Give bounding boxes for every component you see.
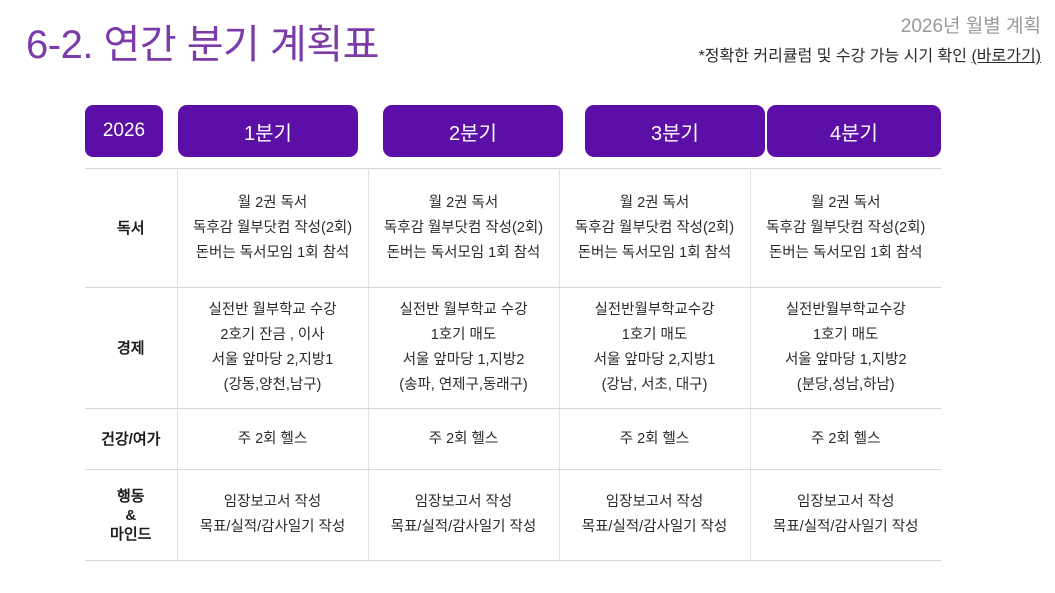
row-label-economy: 경제 bbox=[85, 288, 177, 409]
text-line: 서울 앞마당 1,지방2 bbox=[375, 348, 553, 373]
table-row-action-mind: 행동&마인드 임장보고서 작성목표/실적/감사일기 작성 임장보고서 작성목표/… bbox=[85, 470, 941, 561]
curriculum-link[interactable]: (바로가기) bbox=[971, 48, 1041, 65]
cell-economy-q3: 실전반월부학교수강1호기 매도서울 앞마당 2,지방1(강남, 서초, 대구) bbox=[559, 288, 750, 409]
text-line: 서울 앞마당 1,지방2 bbox=[757, 348, 936, 373]
text-line: 주 2회 헬스 bbox=[566, 427, 744, 452]
text-line: 경제 bbox=[85, 339, 177, 358]
chip-quarter-1: 1분기 bbox=[178, 105, 358, 157]
row-label-action-mind: 행동&마인드 bbox=[85, 470, 177, 561]
cell-health-q4: 주 2회 헬스 bbox=[750, 409, 941, 470]
cell-health-q1: 주 2회 헬스 bbox=[177, 409, 368, 470]
table-row-reading: 독서 월 2권 독서독후감 월부닷컴 작성(2회)돈버는 독서모임 1회 참석 … bbox=[85, 169, 941, 288]
text-line: 임장보고서 작성 bbox=[566, 490, 744, 515]
text-line: 임장보고서 작성 bbox=[375, 490, 553, 515]
text-line: 1호기 매도 bbox=[375, 323, 553, 348]
text-line: 돈버는 독서모임 1회 참석 bbox=[757, 241, 936, 266]
text-line: 실전반월부학교수강 bbox=[566, 298, 744, 323]
table-row-economy: 경제 실전반 월부학교 수강2호기 잔금 , 이사서울 앞마당 2,지방1(강동… bbox=[85, 288, 941, 409]
cell-economy-q2: 실전반 월부학교 수강1호기 매도서울 앞마당 1,지방2(송파, 연제구,동래… bbox=[368, 288, 559, 409]
text-line: 독후감 월부닷컴 작성(2회) bbox=[566, 216, 744, 241]
cell-economy-q4: 실전반월부학교수강1호기 매도서울 앞마당 1,지방2(분당,성남,하남) bbox=[750, 288, 941, 409]
text-line: 독후감 월부닷컴 작성(2회) bbox=[757, 216, 936, 241]
text-line: 1호기 매도 bbox=[566, 323, 744, 348]
chip-quarter-3: 3분기 bbox=[585, 105, 765, 157]
cell-reading-q1: 월 2권 독서독후감 월부닷컴 작성(2회)돈버는 독서모임 1회 참석 bbox=[177, 169, 368, 288]
text-line: 돈버는 독서모임 1회 참석 bbox=[566, 241, 744, 266]
chip-quarter-4: 4분기 bbox=[767, 105, 941, 157]
row-label-reading: 독서 bbox=[85, 169, 177, 288]
text-line: 서울 앞마당 2,지방1 bbox=[184, 348, 362, 373]
text-line: 임장보고서 작성 bbox=[757, 490, 936, 515]
text-line: 독서 bbox=[85, 219, 177, 238]
text-line: 실전반월부학교수강 bbox=[757, 298, 936, 323]
row-label-health: 건강/여가 bbox=[85, 409, 177, 470]
text-line: 임장보고서 작성 bbox=[184, 490, 362, 515]
text-line: 월 2권 독서 bbox=[184, 191, 362, 216]
cell-economy-q1: 실전반 월부학교 수강2호기 잔금 , 이사서울 앞마당 2,지방1(강동,양천… bbox=[177, 288, 368, 409]
text-line: 월 2권 독서 bbox=[566, 191, 744, 216]
text-line: 1호기 매도 bbox=[757, 323, 936, 348]
text-line: 월 2권 독서 bbox=[375, 191, 553, 216]
cell-action-q1: 임장보고서 작성목표/실적/감사일기 작성 bbox=[177, 470, 368, 561]
header-subtitle: 2026년 월별 계획 bbox=[699, 14, 1041, 40]
text-line: & bbox=[85, 506, 177, 525]
cell-action-q2: 임장보고서 작성목표/실적/감사일기 작성 bbox=[368, 470, 559, 561]
text-line: 행동 bbox=[85, 487, 177, 506]
text-line: 서울 앞마당 2,지방1 bbox=[566, 348, 744, 373]
text-line: 독후감 월부닷컴 작성(2회) bbox=[375, 216, 553, 241]
cell-reading-q4: 월 2권 독서독후감 월부닷컴 작성(2회)돈버는 독서모임 1회 참석 bbox=[750, 169, 941, 288]
cell-health-q2: 주 2회 헬스 bbox=[368, 409, 559, 470]
cell-reading-q3: 월 2권 독서독후감 월부닷컴 작성(2회)돈버는 독서모임 1회 참석 bbox=[559, 169, 750, 288]
chip-year: 2026 bbox=[85, 105, 163, 157]
chip-quarter-2: 2분기 bbox=[383, 105, 563, 157]
plan-table-body: 독서 월 2권 독서독후감 월부닷컴 작성(2회)돈버는 독서모임 1회 참석 … bbox=[85, 169, 941, 561]
text-line: 독후감 월부닷컴 작성(2회) bbox=[184, 216, 362, 241]
text-line: 주 2회 헬스 bbox=[375, 427, 553, 452]
text-line: 돈버는 독서모임 1회 참석 bbox=[184, 241, 362, 266]
table-row-health: 건강/여가 주 2회 헬스 주 2회 헬스 주 2회 헬스 주 2회 헬스 bbox=[85, 409, 941, 470]
text-line: 실전반 월부학교 수강 bbox=[184, 298, 362, 323]
text-line: 목표/실적/감사일기 작성 bbox=[184, 515, 362, 540]
text-line: 주 2회 헬스 bbox=[757, 427, 936, 452]
text-line: 목표/실적/감사일기 작성 bbox=[375, 515, 553, 540]
text-line: 마인드 bbox=[85, 525, 177, 544]
header-note-text: *정확한 커리큘럼 및 수강 가능 시기 확인 bbox=[699, 48, 972, 65]
cell-health-q3: 주 2회 헬스 bbox=[559, 409, 750, 470]
text-line: (송파, 연제구,동래구) bbox=[375, 373, 553, 398]
text-line: 실전반 월부학교 수강 bbox=[375, 298, 553, 323]
page-title: 6-2. 연간 분기 계획표 bbox=[26, 12, 379, 70]
page-header: 6-2. 연간 분기 계획표 2026년 월별 계획 *정확한 커리큘럼 및 수… bbox=[0, 0, 1055, 95]
text-line: 주 2회 헬스 bbox=[184, 427, 362, 452]
text-line: (분당,성남,하남) bbox=[757, 373, 936, 398]
text-line: 목표/실적/감사일기 작성 bbox=[757, 515, 936, 540]
header-right-block: 2026년 월별 계획 *정확한 커리큘럼 및 수강 가능 시기 확인 (바로가… bbox=[699, 14, 1041, 70]
text-line: 월 2권 독서 bbox=[757, 191, 936, 216]
text-line: (강동,양천,남구) bbox=[184, 373, 362, 398]
annual-quarter-plan-table: 독서 월 2권 독서독후감 월부닷컴 작성(2회)돈버는 독서모임 1회 참석 … bbox=[85, 168, 941, 561]
text-line: (강남, 서초, 대구) bbox=[566, 373, 744, 398]
quarter-chip-row: 2026 1분기 2분기 3분기 4분기 bbox=[85, 105, 941, 157]
text-line: 2호기 잔금 , 이사 bbox=[184, 323, 362, 348]
text-line: 돈버는 독서모임 1회 참석 bbox=[375, 241, 553, 266]
cell-action-q3: 임장보고서 작성목표/실적/감사일기 작성 bbox=[559, 470, 750, 561]
text-line: 건강/여가 bbox=[85, 430, 177, 449]
text-line: 목표/실적/감사일기 작성 bbox=[566, 515, 744, 540]
cell-action-q4: 임장보고서 작성목표/실적/감사일기 작성 bbox=[750, 470, 941, 561]
header-note: *정확한 커리큘럼 및 수강 가능 시기 확인 (바로가기) bbox=[699, 44, 1041, 70]
cell-reading-q2: 월 2권 독서독후감 월부닷컴 작성(2회)돈버는 독서모임 1회 참석 bbox=[368, 169, 559, 288]
